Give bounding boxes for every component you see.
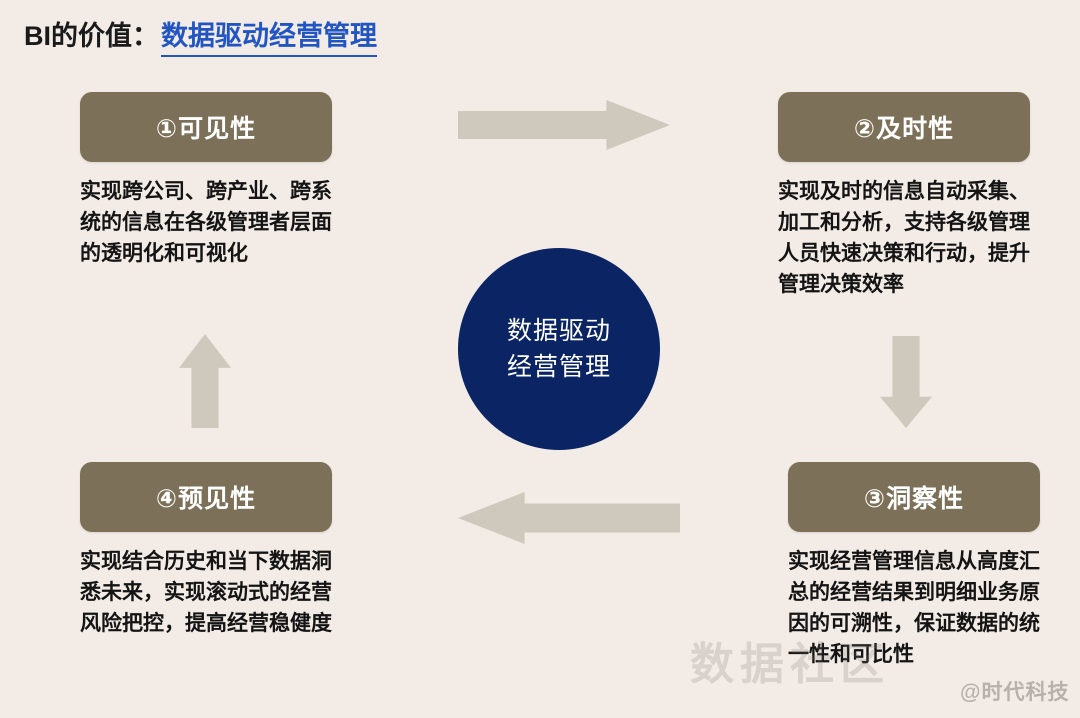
quadrant-insight: ③洞察性 实现经营管理信息从高度汇总的经营结果到明细业务原因的可溯性，保证数据的… [788, 462, 1040, 670]
quadrant-foresight: ④预见性 实现结合历史和当下数据洞悉未来，实现滚动式的经营风险把控，提高经营稳健… [80, 462, 332, 639]
watermark-handle: @时代科技 [960, 676, 1069, 706]
arrow-down-icon [880, 336, 932, 428]
quadrant-timeliness: ②及时性 实现及时的信息自动采集、加工和分析，支持各级管理人员快速决策和行动，提… [778, 92, 1030, 300]
center-circle-line1: 数据驱动 [507, 313, 611, 349]
arrow-up-icon [179, 334, 231, 428]
center-circle: 数据驱动 经营管理 [458, 248, 660, 450]
quadrant-timeliness-body: 实现及时的信息自动采集、加工和分析，支持各级管理人员快速决策和行动，提升管理决策… [778, 176, 1030, 300]
arrow-left-icon [458, 492, 680, 544]
page-title-main: BI的价值： [24, 14, 159, 53]
quadrant-foresight-header: ④预见性 [80, 462, 332, 532]
page-title: BI的价值： 数据驱动经营管理 [24, 14, 377, 57]
quadrant-foresight-body: 实现结合历史和当下数据洞悉未来，实现滚动式的经营风险把控，提高经营稳健度 [80, 546, 332, 639]
quadrant-visibility: ①可见性 实现跨公司、跨产业、跨系统的信息在各级管理者层面的透明化和可视化 [80, 92, 332, 269]
quadrant-visibility-header: ①可见性 [80, 92, 332, 162]
page-title-highlight: 数据驱动经营管理 [161, 14, 377, 57]
quadrant-insight-body: 实现经营管理信息从高度汇总的经营结果到明细业务原因的可溯性，保证数据的统一性和可… [788, 546, 1040, 670]
arrow-right-icon [458, 100, 670, 150]
slide-canvas: BI的价值： 数据驱动经营管理 ①可见性 实现跨公司、跨产业、跨系统的信息在各级… [0, 0, 1080, 718]
center-circle-line2: 经营管理 [507, 349, 611, 385]
quadrant-visibility-body: 实现跨公司、跨产业、跨系统的信息在各级管理者层面的透明化和可视化 [80, 176, 332, 269]
quadrant-timeliness-header: ②及时性 [778, 92, 1030, 162]
quadrant-insight-header: ③洞察性 [788, 462, 1040, 532]
